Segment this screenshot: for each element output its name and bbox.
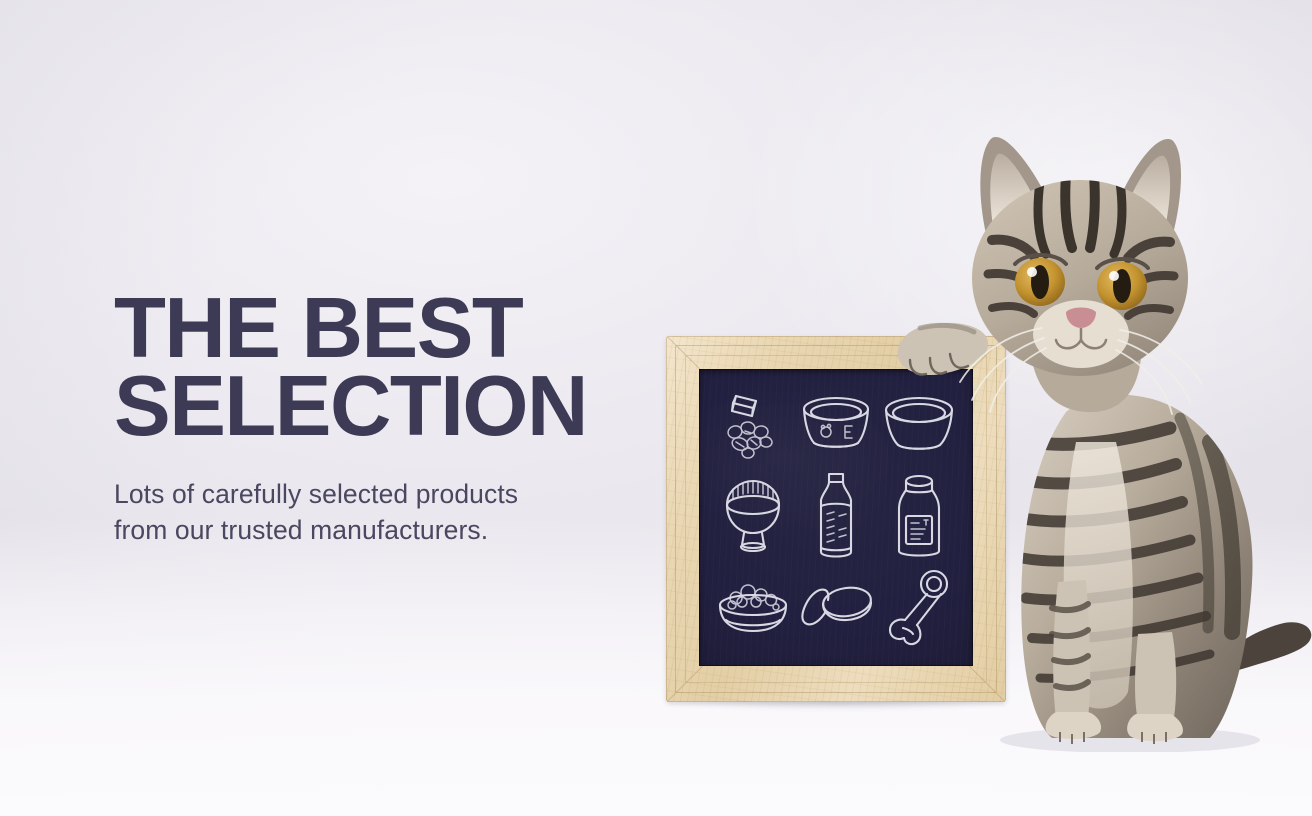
hero-banner: THE BEST SELECTION Lots of carefully sel…: [0, 0, 1312, 816]
kitten-raised-paw: [898, 323, 988, 375]
page-title: THE BEST SELECTION: [114, 290, 654, 446]
chalk-icon-scoop-dish: [794, 564, 877, 651]
hero-subtitle: Lots of carefully selected products from…: [114, 476, 654, 548]
kitten-photo: [880, 112, 1312, 752]
chalk-icon-pet-bowl-marked: [794, 383, 877, 470]
chalk-icon-kibble-packet: [711, 383, 794, 470]
chalk-icon-grooming-brush: [711, 470, 794, 564]
hero-copy-block: THE BEST SELECTION Lots of carefully sel…: [114, 290, 654, 548]
chalk-icon-food-bowl-filled: [711, 564, 794, 651]
kitten-illustration: [880, 112, 1312, 752]
chalk-icon-water-bottle: [794, 470, 877, 564]
kitten-muzzle: [1033, 300, 1129, 368]
